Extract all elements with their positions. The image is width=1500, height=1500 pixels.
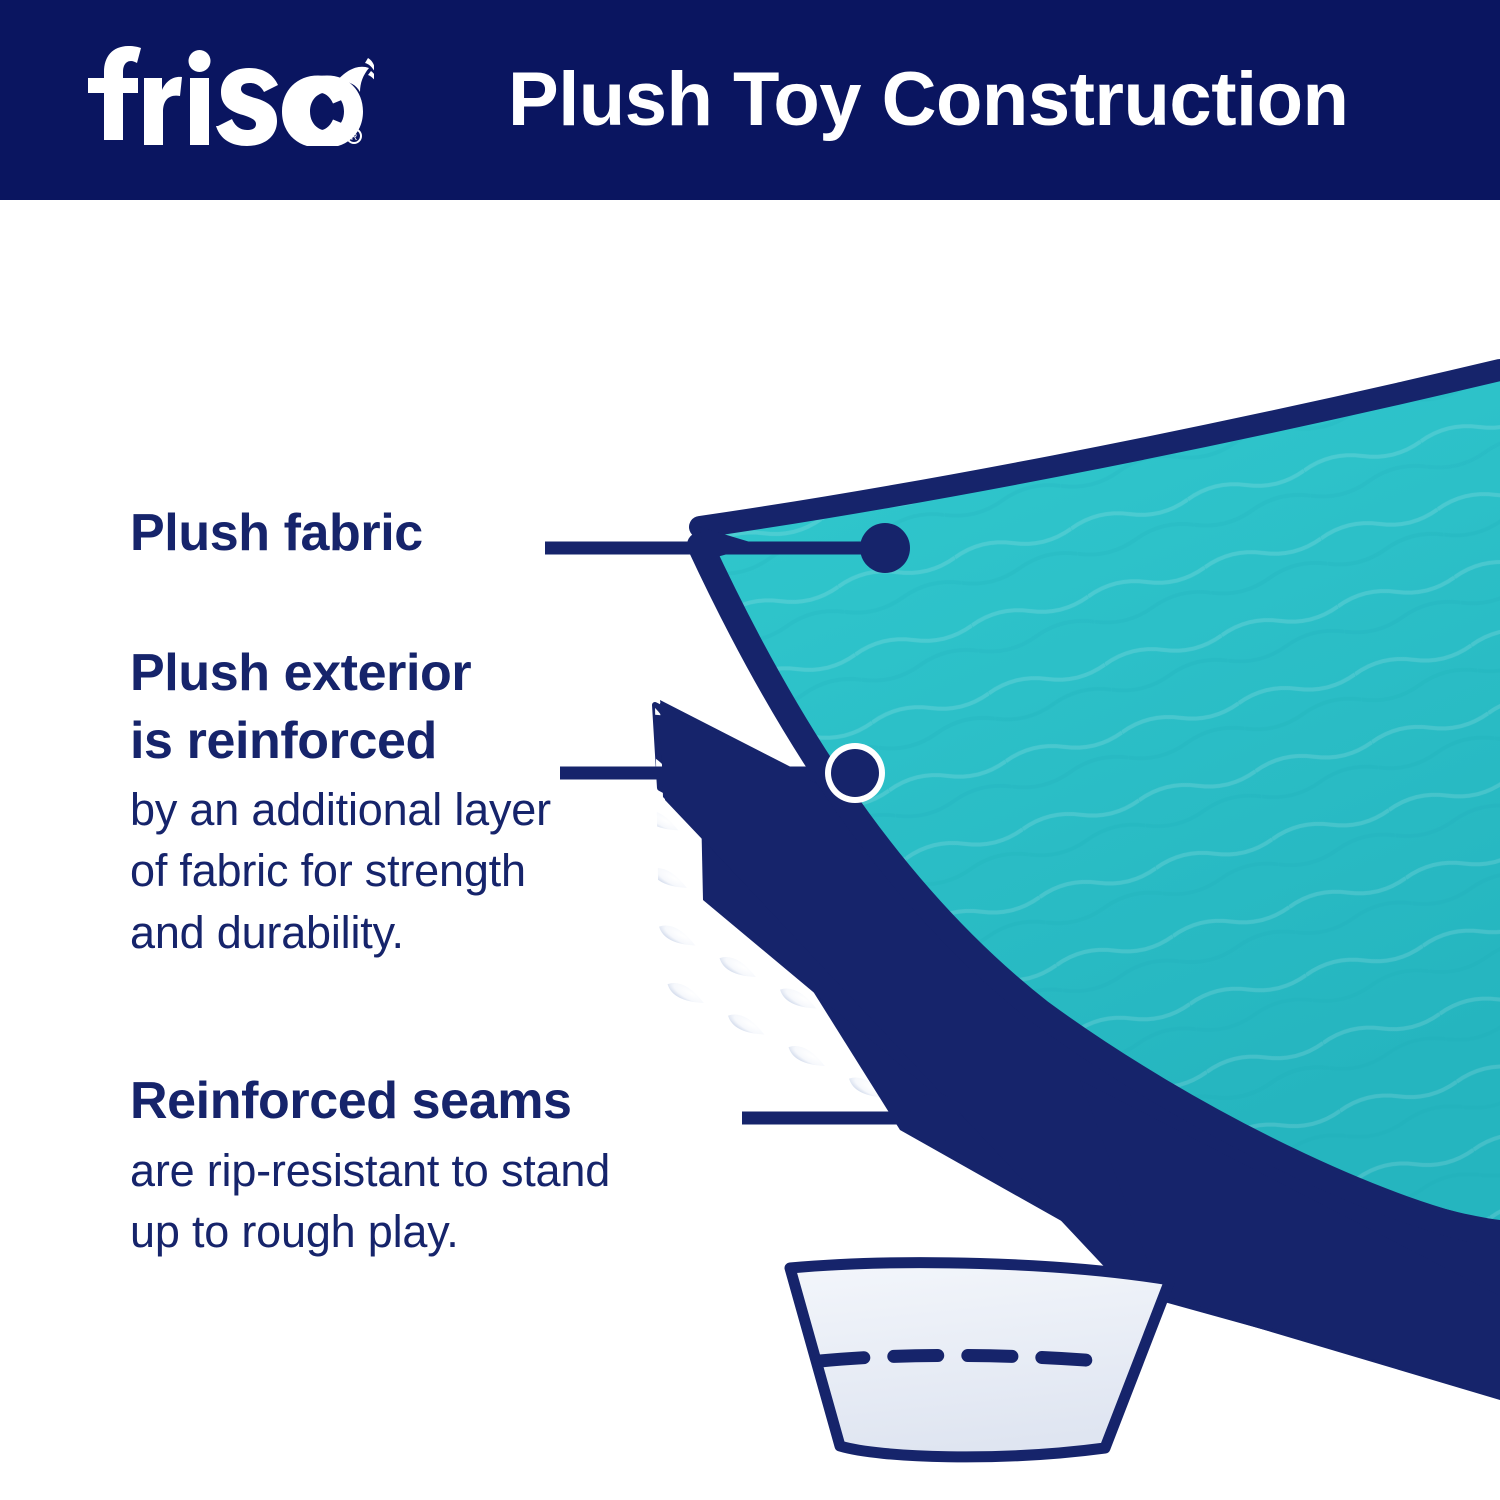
callout-reinforced-seams-body: are rip-resistant to stand up to rough p…: [130, 1140, 810, 1262]
page-title: Plush Toy Construction: [508, 46, 1348, 154]
svg-text:R: R: [351, 132, 358, 142]
callout-plush-exterior-body: by an additional layer of fabric for str…: [130, 779, 730, 963]
header-band: R Plush Toy Construction: [0, 0, 1500, 200]
callout-reinforced-seams-heading: Reinforced seams: [130, 1068, 810, 1136]
callout-plush-fabric-heading: Plush fabric: [130, 500, 560, 568]
callout-plush-exterior-heading: Plush exterior is reinforced: [130, 640, 730, 775]
seam-flap-layer: [790, 1263, 1170, 1457]
callout-plush-fabric: Plush fabric: [130, 500, 560, 568]
infographic-page: R Plush Toy Construction: [0, 0, 1500, 1500]
callout-reinforced-seams: Reinforced seams are rip-resistant to st…: [130, 1068, 810, 1262]
callout-plush-exterior: Plush exterior is reinforced by an addit…: [130, 640, 730, 963]
frisco-logo: R: [74, 38, 374, 146]
